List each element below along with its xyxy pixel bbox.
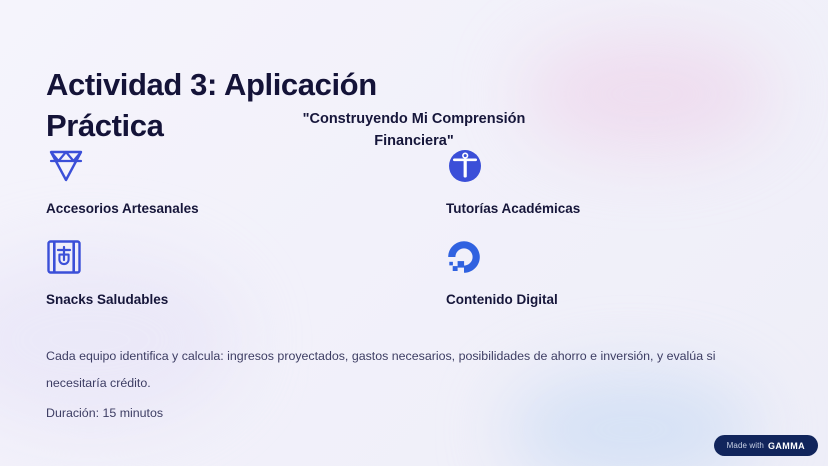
card-label: Accesorios Artesanales [46,197,246,221]
activity-description: Cada equipo identifica y calcula: ingres… [46,343,736,396]
duration-text: Duración: 15 minutos [46,404,163,424]
card-label: Tutorías Académicas [446,197,646,221]
card-grid: Accesorios Artesanales Tutorías Académic… [46,144,786,313]
diamond-icon [46,144,90,188]
card-row-1: Accesorios Artesanales Tutorías Académic… [46,144,786,221]
digital-content-icon [446,235,490,279]
card-accesorios-artesanales: Accesorios Artesanales [46,144,416,221]
card-label: Snacks Saludables [46,288,246,312]
slide-canvas: Actividad 3: Aplicación Práctica "Constr… [0,0,828,466]
snack-square-icon [46,235,90,279]
slide-content: Actividad 3: Aplicación Práctica "Constr… [0,0,828,466]
badge-prefix: Made with [727,441,764,450]
badge-brand: GAMMA [768,441,805,451]
made-with-gamma-badge[interactable]: Made with GAMMA [714,435,818,456]
card-row-2: Snacks Saludables Contenido Digital [46,235,786,312]
card-tutorias-academicas: Tutorías Académicas [416,144,786,221]
card-snacks-saludables: Snacks Saludables [46,235,416,312]
card-label: Contenido Digital [446,288,646,312]
card-contenido-digital: Contenido Digital [416,235,786,312]
tutor-circle-icon [446,144,490,188]
